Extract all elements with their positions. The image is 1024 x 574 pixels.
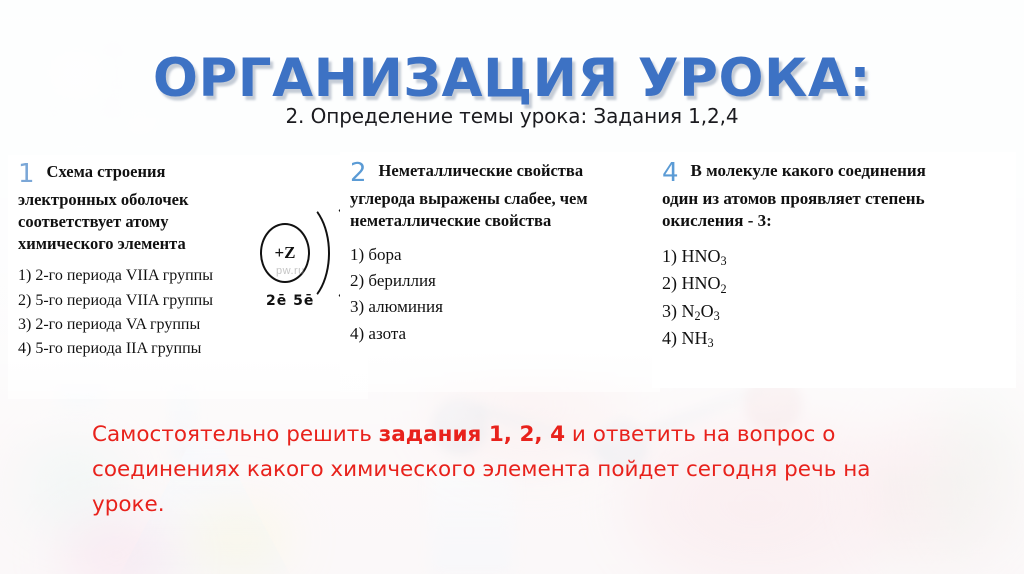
task-1-heading: 1 Схема строения [18, 161, 358, 187]
task-4-option[interactable]: 2) HNO2 [662, 270, 1006, 297]
task-4-option[interactable]: 3) N2O3 [662, 298, 1006, 325]
slide-content: ОРГАНИЗАЦИЯ УРОКА: 2. Определение темы у… [0, 0, 1024, 574]
task-4-options: 1) HNO3 2) HNO2 3) N2O3 4) NH3 [662, 243, 1006, 352]
task-2-option[interactable]: 3) алюминия [350, 294, 650, 320]
task-1-stem-rest: электронных оболочек соответствует атому… [18, 189, 226, 254]
page-title: ОРГАНИЗАЦИЯ УРОКА: [0, 48, 1024, 109]
task-2-stem-first-line: Неметаллические свойства [379, 160, 584, 182]
task-card-2: 2 Неметаллические свойства углерода выра… [340, 152, 660, 392]
slide-subtitle: 2. Определение темы урока: Задания 1,2,4 [0, 104, 1024, 128]
task-4-stem-rest: один из атомов проявляет степень окислен… [662, 188, 1006, 233]
task-4-option[interactable]: 1) HNO3 [662, 243, 1006, 270]
task-2-options: 1) бора 2) бериллия 3) алюминия 4) азота [350, 242, 650, 347]
task-4-heading: 4 В молекуле какого соединения [662, 160, 1006, 186]
task-2-option[interactable]: 4) азота [350, 321, 650, 347]
instruction-part-1: Самостоятельно решить [92, 422, 379, 447]
task-1-option[interactable]: 4) 5-го периода IIA группы [18, 337, 358, 361]
task-2-option[interactable]: 1) бора [350, 242, 650, 268]
task-2-number: 2 [350, 160, 367, 186]
task-1-stem-first-line: Схема строения [47, 161, 166, 183]
task-4-option[interactable]: 4) NH3 [662, 325, 1006, 352]
task-4-stem-first-line: В молекуле какого соединения [691, 160, 926, 182]
instruction-bold-tasks: задания 1, 2, 4 [379, 422, 565, 447]
task-1-number: 1 [18, 161, 35, 187]
instruction-text: Самостоятельно решить задания 1, 2, 4 и … [92, 418, 892, 522]
task-4-number: 4 [662, 160, 679, 186]
task-2-heading: 2 Неметаллические свойства [350, 160, 650, 186]
figure-watermark: pw.ru [276, 265, 305, 277]
electron-count-labels: 2ē 5ē [266, 293, 314, 309]
task-2-stem-rest: углерода выражены слабее, чем неметаллич… [350, 188, 650, 232]
task-card-4: 4 В молекуле какого соединения один из а… [652, 152, 1016, 388]
task-2-option[interactable]: 2) бериллия [350, 268, 650, 294]
task-card-1: 1 Схема строения электронных оболочек со… [8, 155, 368, 399]
task-1-option[interactable]: 3) 2-го периода VA группы [18, 313, 358, 337]
slide-canvas: ОРГАНИЗАЦИЯ УРОКА: 2. Определение темы у… [0, 0, 1024, 574]
